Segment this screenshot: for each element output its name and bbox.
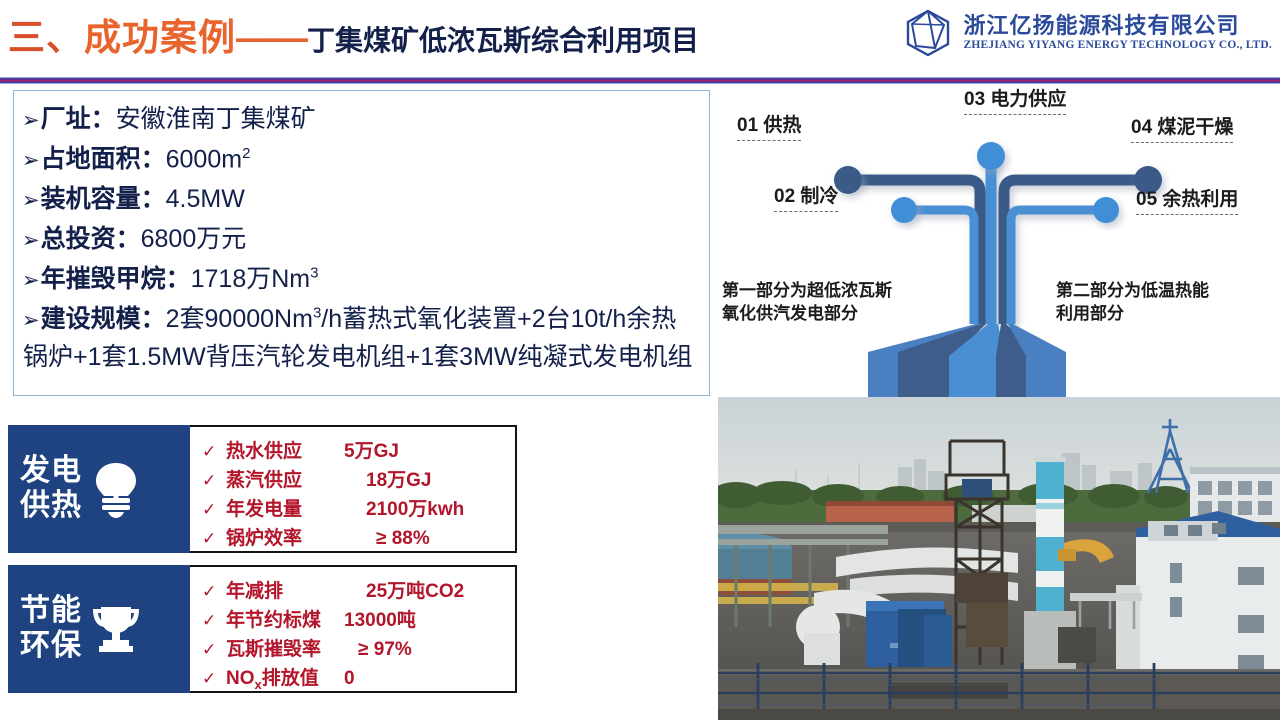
list-item: ✓ NOx排放值 0 <box>202 663 515 692</box>
diagram-caption-left: 第一部分为超低浓瓦斯氧化供汽发电部分 <box>722 280 892 326</box>
check-icon: ✓ <box>202 582 226 602</box>
list-item-value: ≥ 88% <box>376 528 430 550</box>
slide-header: 三、 成功案例 —— 丁集煤矿低浓瓦斯综合利用项目 浙江亿扬能源科技有限公司 Z… <box>0 0 1280 78</box>
bullet-arrow-icon: ➢ <box>22 190 40 211</box>
company-name-en: ZHEJIANG YIYANG ENERGY TECHNOLOGY CO., L… <box>963 39 1272 53</box>
bullet-arrow-icon: ➢ <box>22 230 40 251</box>
info-label: 装机容量： <box>41 179 166 215</box>
lightbulb-icon <box>88 459 144 519</box>
page-title-main: 成功案例 <box>84 7 236 61</box>
list-item-label: NOx排放值 <box>226 663 344 692</box>
check-icon: ✓ <box>202 471 226 491</box>
diagram-label-02: 02 制冷 <box>774 181 838 212</box>
info-value: 2套90000Nm3/h蓄热式氧化装置+2台10t/h余热 <box>166 299 677 335</box>
info-label: 占地面积： <box>41 139 166 175</box>
list-item-value: ≥ 97% <box>358 639 412 661</box>
list-item-label: 热水供应 <box>226 436 344 463</box>
diagram-label-03: 03 电力供应 <box>964 84 1066 115</box>
list-item-label: 年减排 <box>226 576 344 603</box>
check-icon: ✓ <box>202 640 226 660</box>
list-item-label: 蒸汽供应 <box>226 465 344 492</box>
info-label: 年摧毁甲烷： <box>41 259 191 295</box>
bullet-arrow-icon: ➢ <box>22 150 40 171</box>
plant-photo-graphic <box>718 397 1280 720</box>
feature-block-power-heat: 发电供热 ✓ 热水供应 5万GJ ✓ 蒸汽供应 18万GJ ✓ 年发电量 <box>8 425 517 553</box>
chimney <box>1034 457 1066 615</box>
info-row-capacity: ➢ 装机容量： 4.5MW <box>22 179 703 219</box>
list-item: ✓ 年减排 25万吨CO2 <box>202 576 515 605</box>
list-item-value: 13000吨 <box>344 605 416 632</box>
bullet-arrow-icon: ➢ <box>22 310 40 331</box>
info-value: 安徽淮南丁集煤矿 <box>116 99 316 135</box>
list-item-label: 瓦斯摧毁率 <box>226 634 344 661</box>
feature-tag-power-heat: 发电供热 <box>8 425 190 553</box>
company-logo: 浙江亿扬能源科技有限公司 ZHEJIANG YIYANG ENERGY TECH… <box>903 8 1272 58</box>
info-row-investment: ➢ 总投资： 6800万元 <box>22 219 703 259</box>
info-label: 建设规模： <box>41 299 166 335</box>
page-title-subtitle: 丁集煤矿低浓瓦斯综合利用项目 <box>307 19 699 59</box>
list-item: ✓ 年发电量 2100万kwh <box>202 494 515 523</box>
feature-tag-energy-saving: 节能环保 <box>8 565 190 693</box>
info-row-site: ➢ 厂址： 安徽淮南丁集煤矿 <box>22 99 703 139</box>
diagram-label-01: 01 供热 <box>737 110 801 141</box>
info-row-area: ➢ 占地面积： 6000m2 <box>22 139 703 179</box>
bullet-arrow-icon: ➢ <box>22 110 40 131</box>
page-title-number: 三、 <box>8 7 84 61</box>
page-title-dash: —— <box>236 17 306 59</box>
check-icon: ✓ <box>202 611 226 631</box>
check-icon: ✓ <box>202 500 226 520</box>
list-item-label: 年节约标煤 <box>226 605 344 632</box>
plant-photo <box>718 397 1280 720</box>
list-item-value: 0 <box>344 668 355 690</box>
utilization-diagram: 01 供热 02 制冷 03 电力供应 04 煤泥干燥 05 余热利用 第一部分… <box>718 84 1280 397</box>
diagram-node-05 <box>1093 197 1119 223</box>
trophy-icon <box>88 599 144 659</box>
feature-tag-label: 节能环保 <box>20 594 82 664</box>
company-logo-text: 浙江亿扬能源科技有限公司 ZHEJIANG YIYANG ENERGY TECH… <box>963 13 1272 52</box>
company-name-cn: 浙江亿扬能源科技有限公司 <box>963 13 1239 38</box>
feature-tag-label: 发电供热 <box>20 454 82 524</box>
feature-block-energy-saving: 节能环保 ✓ 年减排 25万吨CO2 ✓ 年节约标煤 13000吨 ✓ 瓦斯 <box>8 565 517 693</box>
info-row-methane: ➢ 年摧毁甲烷： 1718万Nm3 <box>22 259 703 299</box>
check-icon: ✓ <box>202 442 226 462</box>
check-icon: ✓ <box>202 669 226 689</box>
info-value: 6800万元 <box>141 219 247 255</box>
list-item-value: 5万GJ <box>344 436 399 463</box>
page-title: 三、 成功案例 —— 丁集煤矿低浓瓦斯综合利用项目 <box>8 7 699 61</box>
info-value: 6000m2 <box>166 145 251 174</box>
check-icon: ✓ <box>202 529 226 549</box>
list-item: ✓ 蒸汽供应 18万GJ <box>202 465 515 494</box>
hexagon-logo-icon <box>903 8 953 58</box>
diagram-caption-right: 第二部分为低温热能利用部分 <box>1056 280 1209 326</box>
project-info-box: ➢ 厂址： 安徽淮南丁集煤矿 ➢ 占地面积： 6000m2 ➢ 装机容量： 4.… <box>13 90 710 396</box>
info-value: 1718万Nm3 <box>191 259 319 295</box>
list-item-label: 年发电量 <box>226 494 344 521</box>
info-label: 总投资： <box>41 219 141 255</box>
list-item-value: 18万GJ <box>366 465 431 492</box>
diagram-node-03 <box>977 142 1005 170</box>
list-item: ✓ 年节约标煤 13000吨 <box>202 605 515 634</box>
diagram-label-04: 04 煤泥干燥 <box>1131 112 1233 143</box>
feature-list-power-heat: ✓ 热水供应 5万GJ ✓ 蒸汽供应 18万GJ ✓ 年发电量 2100万kwh… <box>190 425 517 553</box>
list-item-value: 25万吨CO2 <box>366 576 464 603</box>
list-item-value: 2100万kwh <box>366 494 464 521</box>
info-label: 厂址： <box>41 99 116 135</box>
diagram-ribbons <box>868 324 1066 397</box>
info-value: 4.5MW <box>166 185 245 214</box>
header-divider <box>0 77 1280 84</box>
info-row-scale: ➢ 建设规模： 2套90000Nm3/h蓄热式氧化装置+2台10t/h余热 <box>22 299 703 339</box>
list-item: ✓ 热水供应 5万GJ <box>202 436 515 465</box>
info-row-scale-continued: 锅炉+1套1.5MW背压汽轮发电机组+1套3MW纯凝式发电机组 <box>22 337 703 373</box>
diagram-label-05: 05 余热利用 <box>1136 184 1238 215</box>
diagram-node-02 <box>891 197 917 223</box>
list-item: ✓ 锅炉效率 ≥ 88% <box>202 523 515 552</box>
bullet-arrow-icon: ➢ <box>22 270 40 291</box>
list-item: ✓ 瓦斯摧毁率 ≥ 97% <box>202 634 515 663</box>
list-item-label: 锅炉效率 <box>226 523 344 550</box>
feature-list-energy-saving: ✓ 年减排 25万吨CO2 ✓ 年节约标煤 13000吨 ✓ 瓦斯摧毁率 ≥ 9… <box>190 565 517 693</box>
